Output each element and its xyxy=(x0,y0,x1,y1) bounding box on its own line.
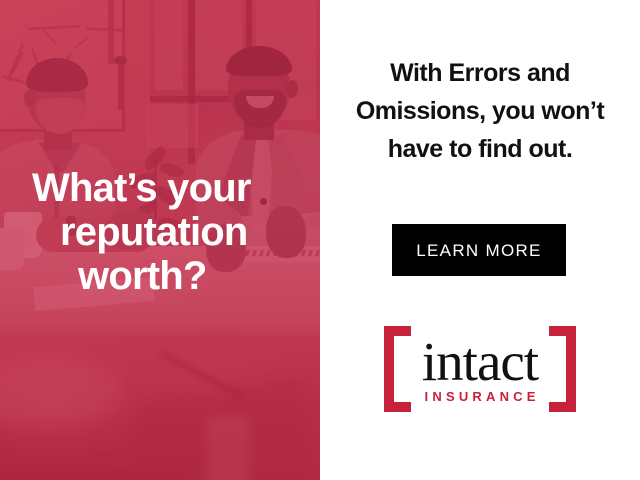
whiteboard-stand xyxy=(118,58,123,110)
hero-headline-line-3: worth? xyxy=(32,254,300,298)
right-person-ear xyxy=(286,80,298,98)
intact-insurance-logo[interactable]: intact INSURANCE xyxy=(384,326,576,412)
left-person-ear xyxy=(24,90,36,107)
hero-headline: What’s your reputation worth? xyxy=(32,166,300,298)
learn-more-label: LEARN MORE xyxy=(416,242,541,259)
message-headline-line-1: With Errors and xyxy=(320,54,640,92)
message-panel: With Errors and Omissions, you won’t hav… xyxy=(320,0,640,480)
logo-tagline: INSURANCE xyxy=(384,390,576,404)
hero-headline-line-1: What’s your xyxy=(32,166,300,210)
coffee-mug xyxy=(0,228,24,270)
hero-headline-line-2: reputation xyxy=(32,210,300,254)
foreground-object xyxy=(206,416,250,480)
message-headline-line-3: have to find out. xyxy=(320,130,640,168)
advertisement-banner: What’s your reputation worth? With Error… xyxy=(0,0,640,480)
message-headline: With Errors and Omissions, you won’t hav… xyxy=(320,54,640,168)
logo-wordmark: intact xyxy=(384,332,576,392)
hero-image-panel: What’s your reputation worth? xyxy=(0,0,320,480)
whiteboard-edge xyxy=(108,0,114,64)
wall-poster xyxy=(146,104,198,148)
whiteboard-stand-knob xyxy=(114,56,127,65)
learn-more-button[interactable]: LEARN MORE xyxy=(392,224,566,276)
message-headline-line-2: Omissions, you won’t xyxy=(320,92,640,130)
window-pane xyxy=(155,0,183,90)
